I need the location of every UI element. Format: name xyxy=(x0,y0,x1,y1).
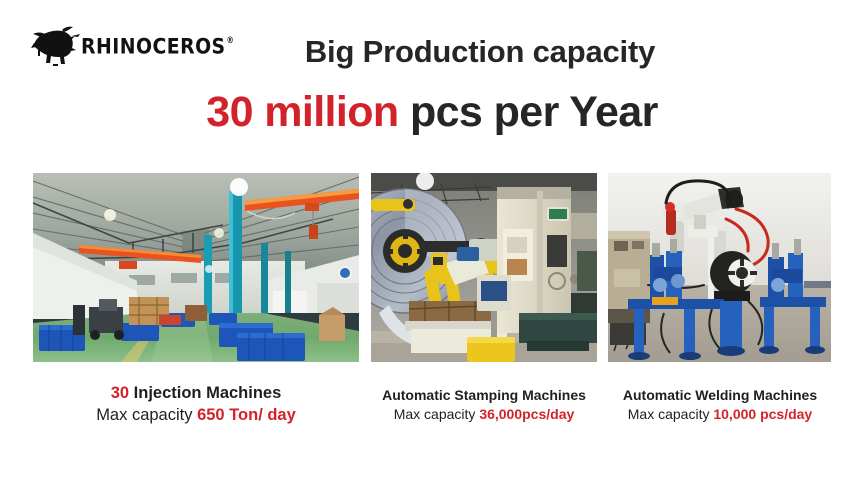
injection-workshop-photo xyxy=(33,173,359,362)
stamping-capacity-value: 36,000pcs/day xyxy=(479,406,574,422)
page-subtitle: 30 million pcs per Year xyxy=(0,88,864,137)
welding-capacity-label: Max capacity xyxy=(628,406,714,422)
injection-machine-label: Injection Machines xyxy=(129,384,281,402)
caption-stamping: Automatic Stamping Machines Max capacity… xyxy=(366,386,602,423)
capacity-unit: pcs per Year xyxy=(399,88,658,136)
caption-injection: 30 Injection Machines Max capacity 650 T… xyxy=(33,383,359,427)
stamping-capacity-label: Max capacity xyxy=(394,406,480,422)
welding-capacity-value: 10,000 pcs/day xyxy=(713,406,812,422)
stamping-machine-label: Automatic Stamping Machines xyxy=(382,387,586,403)
caption-injection-capacity: Max capacity 650 Ton/ day xyxy=(33,405,359,426)
welding-machine-label: Automatic Welding Machines xyxy=(623,387,817,403)
page-title: Big Production capacity xyxy=(0,34,864,70)
injection-capacity-value: 650 Ton/ day xyxy=(197,406,296,424)
caption-welding-title: Automatic Welding Machines xyxy=(606,386,834,404)
caption-injection-title: 30 Injection Machines xyxy=(33,383,359,404)
caption-welding-capacity: Max capacity 10,000 pcs/day xyxy=(606,405,834,423)
caption-welding: Automatic Welding Machines Max capacity … xyxy=(606,386,834,423)
caption-stamping-title: Automatic Stamping Machines xyxy=(366,386,602,404)
welding-machine-photo xyxy=(608,173,831,362)
stamping-machine-photo xyxy=(371,173,597,362)
photo-row xyxy=(0,173,864,362)
capacity-highlight: 30 million xyxy=(206,88,398,136)
injection-machine-count: 30 xyxy=(111,384,129,402)
injection-capacity-label: Max capacity xyxy=(96,406,197,424)
caption-stamping-capacity: Max capacity 36,000pcs/day xyxy=(366,405,602,423)
